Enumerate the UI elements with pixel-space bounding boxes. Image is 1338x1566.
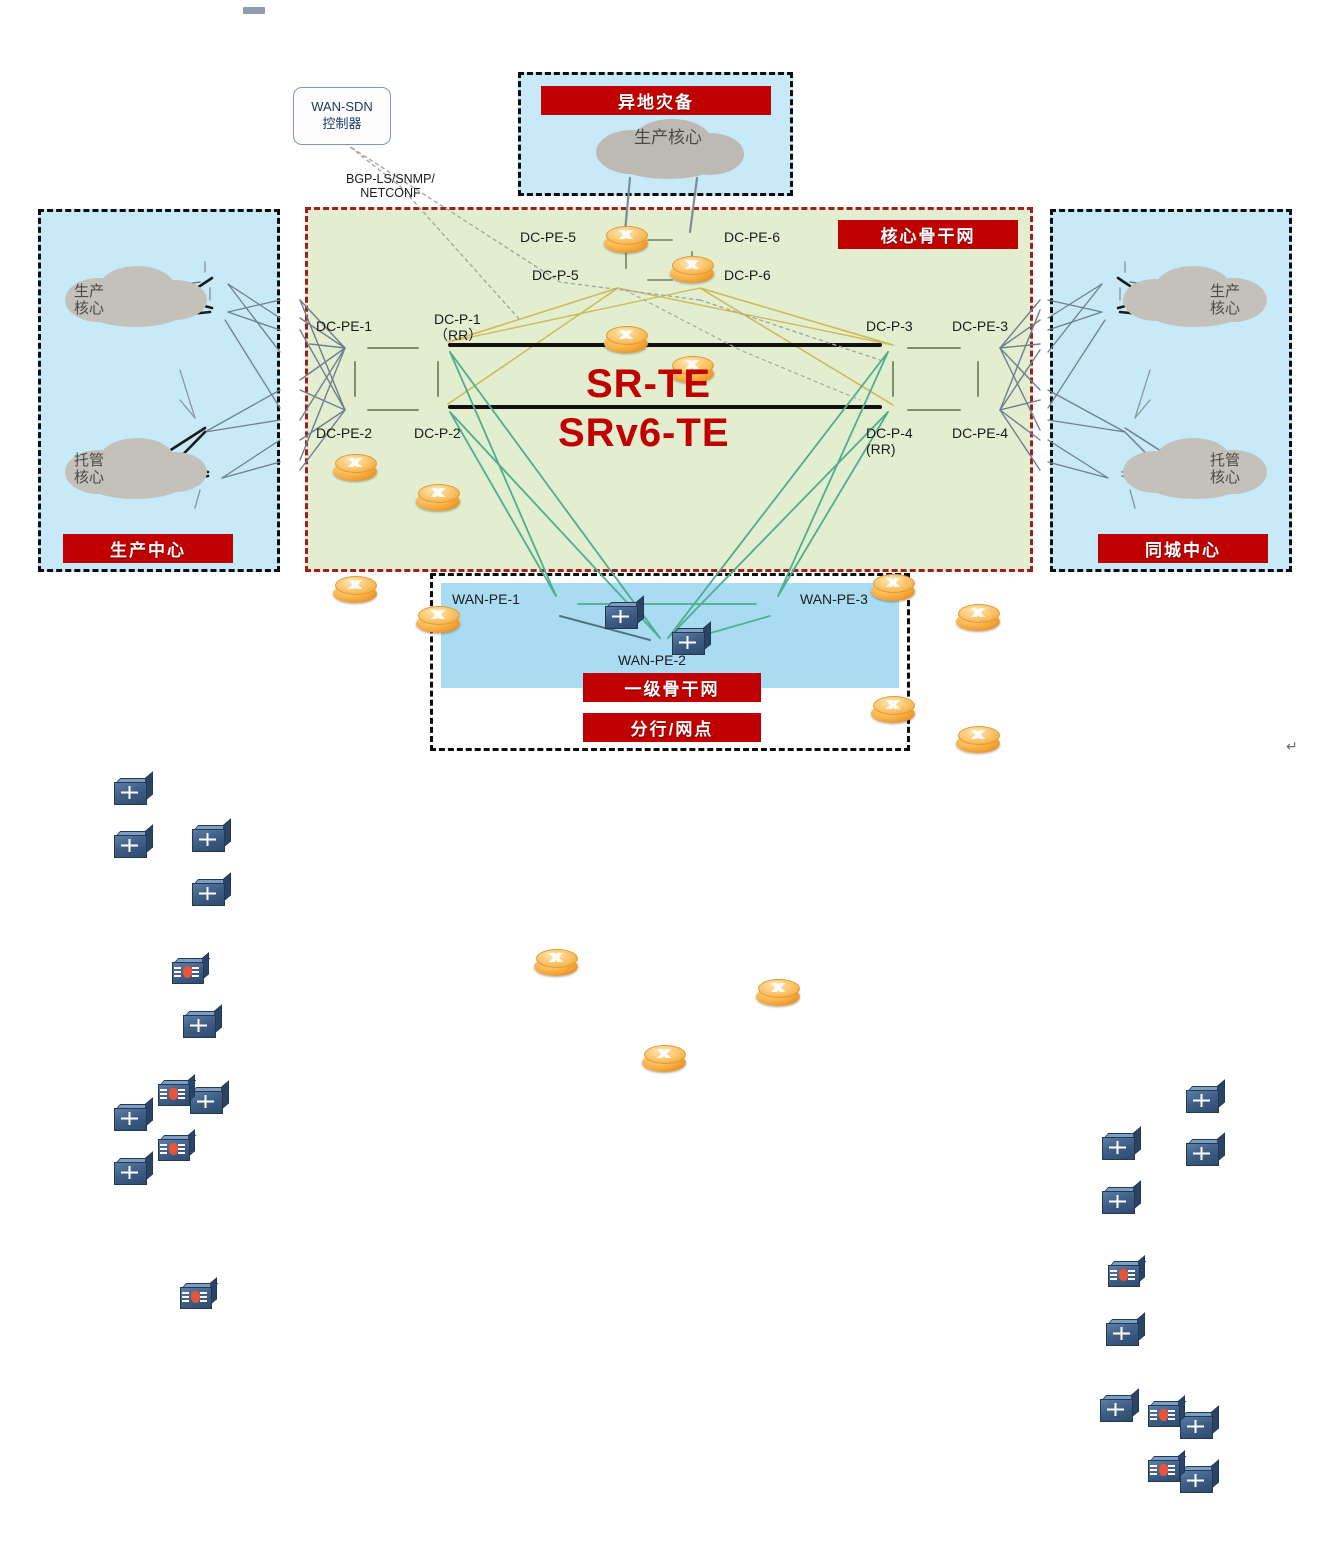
firewall-flame-icon	[1159, 1464, 1168, 1476]
firewall-ray-icon	[192, 975, 199, 977]
router-dc-pe-3[interactable]	[956, 603, 1000, 633]
router-dc-p-2[interactable]	[416, 605, 460, 635]
firewall-ray-icon	[200, 1296, 207, 1298]
switch-arrows-icon	[1193, 1094, 1210, 1107]
switch-right-prod-2[interactable]	[1186, 1139, 1224, 1165]
switch-left-agg-3[interactable]	[183, 1011, 221, 1037]
firewall-ray-icon	[178, 1152, 185, 1154]
switch-left-agg-4[interactable]	[190, 1087, 228, 1113]
banner-dr: 异地灾备	[541, 86, 771, 115]
firewall-ray-icon	[1168, 1469, 1175, 1471]
firewall-ray-icon	[160, 1093, 167, 1095]
firewall-ray-icon	[178, 1089, 185, 1091]
firewall-ray-icon	[1168, 1414, 1175, 1416]
switch-right-agg-3[interactable]	[1106, 1319, 1144, 1345]
switch-right-agg-2[interactable]	[1102, 1187, 1140, 1213]
router-wan-pe-2[interactable]	[642, 1044, 686, 1074]
cloud-label-text: 生产核心	[608, 128, 728, 148]
label-dc-pe-6: DC-PE-6	[724, 229, 780, 245]
firewall-ray-icon	[1168, 1418, 1175, 1420]
firewall-ray-icon	[160, 1097, 167, 1099]
firewall-ray-icon	[160, 1152, 167, 1154]
switch-arrows-icon	[1187, 1420, 1204, 1433]
controller-subtitle: 控制器	[322, 116, 361, 133]
banner-left-center: 生产中心	[63, 534, 233, 563]
router-dc-pe-5[interactable]	[604, 225, 648, 255]
switch-right-prod-1[interactable]	[1186, 1086, 1224, 1112]
firewall-right-3[interactable]	[1148, 1456, 1184, 1481]
switch-arrows-icon	[121, 1112, 138, 1125]
switch-right-host-1[interactable]	[1180, 1412, 1218, 1438]
controller-title: WAN-SDN	[311, 99, 373, 116]
switch-arrows-icon	[197, 1095, 214, 1108]
cloud-right-production-label: 生产 核心	[1210, 283, 1240, 318]
router-dc-pe-4[interactable]	[956, 725, 1000, 755]
banner-branch: 分行/网点	[583, 713, 761, 742]
label-dc-p-6: DC-P-6	[724, 267, 771, 283]
label-dc-p-5: DC-P-5	[532, 267, 579, 283]
label-wan-pe-3: WAN-PE-3	[800, 591, 868, 607]
firewall-flame-icon	[191, 1291, 200, 1303]
label-dc-p-1: DC-P-1 （RR）	[434, 311, 482, 343]
firewall-right-1[interactable]	[1108, 1261, 1144, 1286]
router-wan-pe-1[interactable]	[534, 948, 578, 978]
switch-arrows-icon	[1107, 1403, 1124, 1416]
banner-backbone: 核心骨干网	[838, 220, 1018, 249]
label-dc-pe-1: DC-PE-1	[316, 318, 372, 334]
router-arrows-icon	[426, 610, 450, 619]
firewall-ray-icon	[1150, 1465, 1157, 1467]
firewall-ray-icon	[1128, 1278, 1135, 1280]
firewall-ray-icon	[178, 1093, 185, 1095]
firewall-ray-icon	[160, 1089, 167, 1091]
label-wan-pe-1: WAN-PE-1	[452, 591, 520, 607]
switch-arrows-icon	[121, 786, 138, 799]
firewall-flame-icon	[1119, 1269, 1128, 1281]
router-dc-p-1[interactable]	[416, 483, 460, 513]
label-dc-p-4: DC-P-4 (RR)	[866, 425, 913, 457]
firewall-ray-icon	[1128, 1270, 1135, 1272]
router-arrows-icon	[966, 730, 990, 739]
switch-arrows-icon	[199, 833, 216, 846]
firewall-ray-icon	[182, 1292, 189, 1294]
firewall-flame-icon	[169, 1088, 178, 1100]
firewall-left-1[interactable]	[172, 958, 208, 983]
diagram-canvas: 生产核心 生产 核心 托管 核心 生产 核心	[0, 0, 1338, 783]
top-artifact	[243, 7, 265, 14]
router-arrows-icon	[652, 1049, 676, 1058]
firewall-ray-icon	[1110, 1278, 1117, 1280]
switch-dr-2[interactable]	[672, 628, 710, 654]
label-wan-pe-2: WAN-PE-2	[618, 652, 686, 668]
router-arrows-icon	[426, 488, 450, 497]
firewall-ray-icon	[1150, 1414, 1157, 1416]
router-arrows-icon	[544, 953, 568, 962]
firewall-ray-icon	[160, 1148, 167, 1150]
firewall-ray-icon	[178, 1097, 185, 1099]
router-arrows-icon	[614, 230, 638, 239]
router-dc-pe-2[interactable]	[333, 575, 377, 605]
wan-sdn-controller[interactable]: WAN-SDN 控制器	[293, 87, 391, 145]
router-arrows-icon	[881, 700, 905, 709]
cloud-right-production	[1115, 262, 1275, 332]
label-dc-pe-5: DC-PE-5	[520, 229, 576, 245]
router-arrows-icon	[680, 260, 704, 269]
firewall-left-2[interactable]	[158, 1080, 194, 1105]
firewall-ray-icon	[192, 967, 199, 969]
firewall-ray-icon	[1168, 1465, 1175, 1467]
router-dc-pe-6[interactable]	[670, 255, 714, 285]
router-arrows-icon	[766, 983, 790, 992]
firewall-ray-icon	[174, 967, 181, 969]
switch-right-agg-1[interactable]	[1102, 1133, 1140, 1159]
srv6-te-label: SRv6-TE	[558, 411, 730, 456]
cloud-right-hosting-label: 托管 核心	[1210, 452, 1240, 487]
router-arrows-icon	[343, 580, 367, 589]
router-dc-p-3[interactable]	[871, 573, 915, 603]
firewall-left-3[interactable]	[158, 1135, 194, 1160]
firewall-ray-icon	[1150, 1469, 1157, 1471]
switch-left-host-2[interactable]	[114, 1158, 152, 1184]
switch-right-host-2[interactable]	[1180, 1466, 1218, 1492]
switch-left-prod-2[interactable]	[114, 831, 152, 857]
router-arrows-icon	[343, 458, 367, 467]
switch-arrows-icon	[121, 1166, 138, 1179]
label-dc-pe-3: DC-PE-3	[952, 318, 1008, 334]
cloud-left-hosting-label: 托管 核心	[74, 452, 104, 487]
router-dc-p-4[interactable]	[871, 695, 915, 725]
firewall-ray-icon	[1128, 1274, 1135, 1276]
switch-arrows-icon	[1109, 1141, 1126, 1154]
switch-arrows-icon	[1193, 1147, 1210, 1160]
firewall-ray-icon	[200, 1300, 207, 1302]
switch-left-agg-2[interactable]	[192, 879, 230, 905]
router-arrows-icon	[614, 330, 638, 339]
switch-arrows-icon	[1187, 1474, 1204, 1487]
sr-te-label: SR-TE	[586, 362, 711, 407]
banner-level1-backbone: 一级骨干网	[583, 673, 761, 702]
cloud-right-hosting	[1115, 432, 1275, 504]
switch-dr-1[interactable]	[605, 602, 643, 628]
switch-left-host-1[interactable]	[114, 1104, 152, 1130]
firewall-ray-icon	[160, 1144, 167, 1146]
switch-arrows-icon	[121, 839, 138, 852]
router-dc-p-5[interactable]	[604, 325, 648, 355]
label-dc-pe-2: DC-PE-2	[316, 425, 372, 441]
firewall-ray-icon	[1168, 1473, 1175, 1475]
firewall-ray-icon	[1150, 1410, 1157, 1412]
router-dc-pe-1[interactable]	[333, 453, 377, 483]
firewall-ray-icon	[182, 1296, 189, 1298]
label-dc-pe-4: DC-PE-4	[952, 425, 1008, 441]
banner-right-center: 同城中心	[1098, 534, 1268, 563]
switch-arrows-icon	[612, 610, 629, 623]
firewall-ray-icon	[1150, 1473, 1157, 1475]
firewall-ray-icon	[174, 975, 181, 977]
firewall-right-2[interactable]	[1148, 1401, 1184, 1426]
firewall-ray-icon	[174, 971, 181, 973]
switch-left-agg-1[interactable]	[192, 825, 230, 851]
router-arrows-icon	[881, 578, 905, 587]
firewall-ray-icon	[1110, 1274, 1117, 1276]
router-wan-pe-3[interactable]	[756, 978, 800, 1008]
controller-protocol-label: BGP-LS/SNMP/ NETCONF	[346, 172, 435, 201]
firewall-ray-icon	[1168, 1410, 1175, 1412]
cloud-left-production-label: 生产 核心	[74, 283, 104, 318]
switch-arrows-icon	[1113, 1327, 1130, 1340]
firewall-flame-icon	[183, 966, 192, 978]
switch-arrows-icon	[199, 887, 216, 900]
firewall-ray-icon	[182, 1300, 189, 1302]
firewall-ray-icon	[178, 1144, 185, 1146]
firewall-left-4[interactable]	[180, 1283, 216, 1308]
firewall-ray-icon	[192, 971, 199, 973]
router-arrows-icon	[966, 608, 990, 617]
firewall-ray-icon	[178, 1148, 185, 1150]
switch-arrows-icon	[190, 1019, 207, 1032]
switch-right-agg-4[interactable]	[1100, 1395, 1138, 1421]
firewall-ray-icon	[1150, 1418, 1157, 1420]
paragraph-mark: ↵	[1286, 738, 1298, 755]
firewall-flame-icon	[169, 1143, 178, 1155]
label-dc-p-2: DC-P-2	[414, 425, 461, 441]
switch-left-prod-1[interactable]	[114, 778, 152, 804]
firewall-ray-icon	[1110, 1270, 1117, 1272]
label-dc-p-3: DC-P-3	[866, 318, 913, 334]
cloud-dr-core-label: 生产核心	[608, 128, 728, 148]
firewall-ray-icon	[200, 1292, 207, 1294]
firewall-flame-icon	[1159, 1409, 1168, 1421]
switch-arrows-icon	[679, 636, 696, 649]
switch-arrows-icon	[1109, 1195, 1126, 1208]
